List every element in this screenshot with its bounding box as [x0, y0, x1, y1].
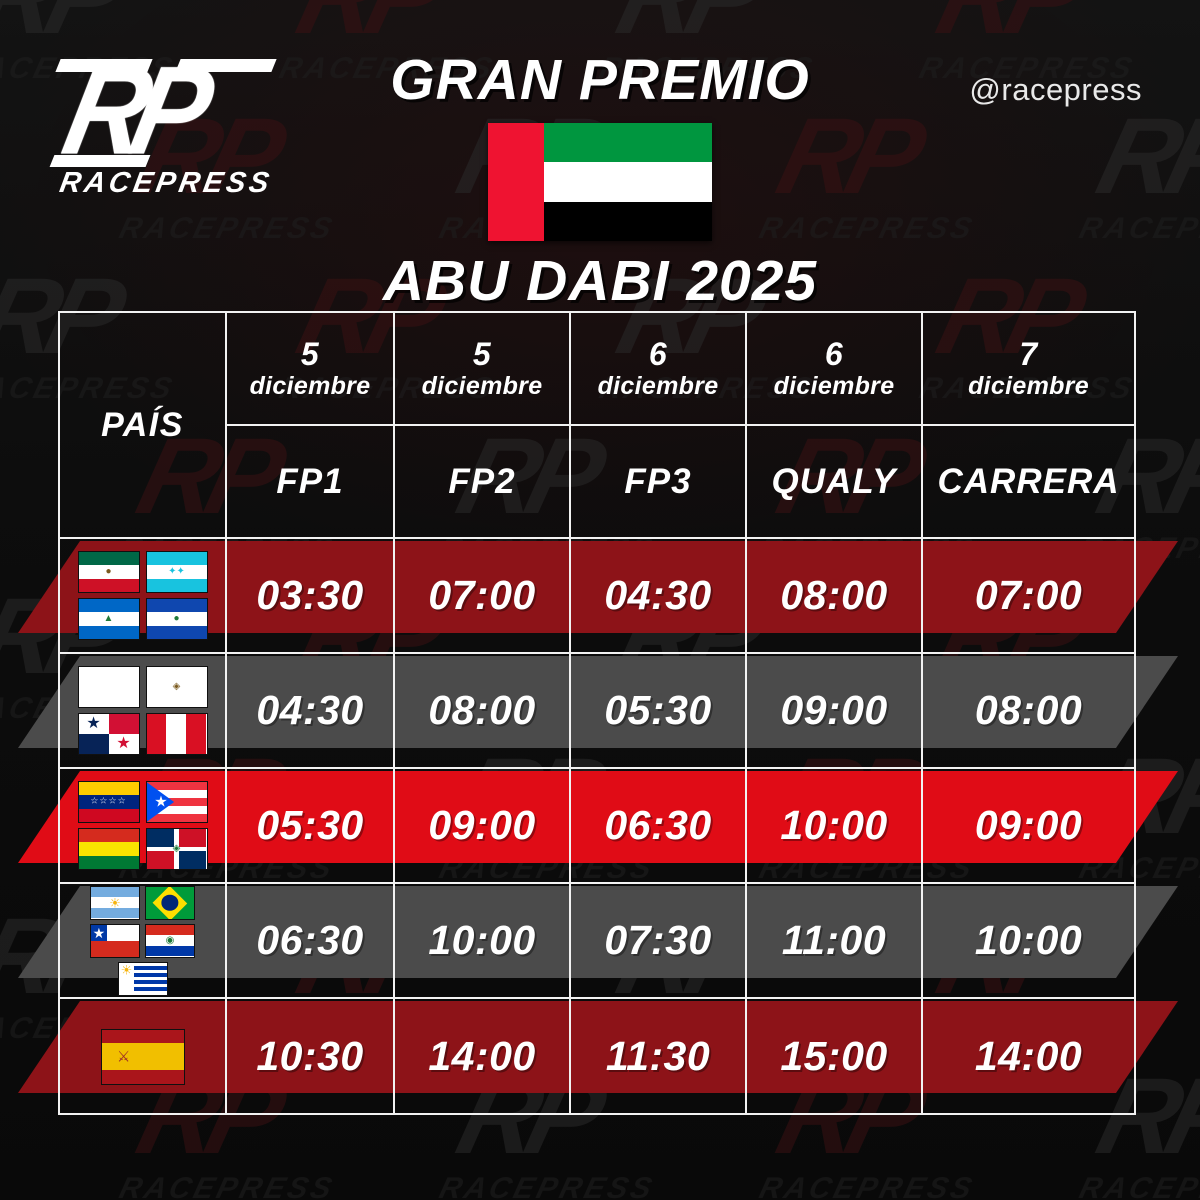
mexico-coat-of-arms-icon: ● [105, 567, 111, 577]
spain-coat-of-arms-icon: ⚔ [117, 1049, 130, 1064]
date-month: diciembre [598, 372, 719, 400]
spain-flag: ⚔ [101, 1029, 185, 1085]
el-salvador-coat-of-arms-icon: ● [173, 614, 179, 624]
racepress-logo: RP RACEPRESS [60, 55, 290, 195]
el-salvador-flag: ● [146, 598, 208, 640]
flag-stripe-white [544, 162, 712, 201]
date-day: 5 [301, 337, 319, 373]
country-flags-row-1: ● ✦✦ ▲ ● [60, 539, 227, 654]
country-flags-row-3: ☆☆☆☆ ★ ◈ [60, 769, 227, 884]
nicaragua-flag: ▲ [78, 598, 140, 640]
session-header-fp1: FP1 [227, 426, 395, 539]
title-block: GRAN PREMIO ABU DABI 2025 [300, 52, 900, 310]
time-row-3-fp3: 06:30 [571, 769, 747, 884]
time-row-1-qualy: 08:00 [747, 539, 923, 654]
chile-flag: ★ [90, 924, 140, 958]
venezuela-flag: ☆☆☆☆ [78, 781, 140, 823]
uruguay-sun-icon: ☀ [121, 963, 133, 976]
time-row-5-carrera: 14:00 [923, 999, 1134, 1114]
venezuela-stars-icon: ☆☆☆☆ [90, 796, 126, 807]
honduras-stars-icon: ✦✦ [168, 567, 185, 577]
time-row-5-fp2: 14:00 [395, 999, 571, 1114]
puerto-rico-star-icon: ★ [154, 795, 167, 810]
watermark-wordmark: RACEPRESS [1076, 1172, 1200, 1200]
time-row-2-qualy: 09:00 [747, 654, 923, 769]
country-flags-row-2: ◈ ★ ★ [60, 654, 227, 769]
session-header-fp3: FP3 [571, 426, 747, 539]
time-row-1-fp2: 07:00 [395, 539, 571, 654]
time-row-3-fp2: 09:00 [395, 769, 571, 884]
argentina-sun-icon: ☀ [109, 896, 121, 909]
date-day: 5 [473, 337, 491, 373]
time-row-4-fp1: 06:30 [227, 884, 395, 999]
colombia-flag [78, 666, 140, 708]
flag-group: ● ✦✦ ▲ ● [68, 551, 218, 640]
honduras-flag: ✦✦ [146, 551, 208, 593]
time-row-2-fp1: 04:30 [227, 654, 395, 769]
flag-group: ◈ ★ ★ [68, 666, 218, 755]
graphic-canvas: RPRACEPRESSRPRACEPRESSRPRACEPRESSRPRACEP… [0, 0, 1200, 1200]
schedule-grid: PAÍS 5 diciembre 5 diciembre 6 diciembre… [58, 311, 1136, 1115]
session-header-fp2: FP2 [395, 426, 571, 539]
nicaragua-coat-of-arms-icon: ▲ [104, 614, 114, 624]
country-flags-row-4: ☀ ★ ◉ ☀ [60, 884, 227, 999]
watermark-wordmark: RACEPRESS [116, 1172, 338, 1200]
watermark-wordmark: RACEPRESS [756, 1172, 978, 1200]
date-day: 7 [1019, 337, 1037, 373]
time-row-3-carrera: 09:00 [923, 769, 1134, 884]
peru-flag [146, 713, 208, 755]
watermark-wordmark: RACEPRESS [436, 1172, 658, 1200]
puerto-rico-flag: ★ [146, 781, 208, 823]
uruguay-flag: ☀ [118, 962, 168, 996]
session-header-qualy: QUALY [747, 426, 923, 539]
flag-stripe-black [544, 202, 712, 241]
time-row-1-fp1: 03:30 [227, 539, 395, 654]
argentina-flag: ☀ [90, 886, 140, 920]
united-arab-emirates-flag [488, 123, 712, 241]
date-header-fp2: 5 diciembre [395, 313, 571, 426]
time-row-2-carrera: 08:00 [923, 654, 1134, 769]
time-row-5-fp1: 10:30 [227, 999, 395, 1114]
time-row-4-carrera: 10:00 [923, 884, 1134, 999]
date-header-qualy: 6 diciembre [747, 313, 923, 426]
page-title-line1: GRAN PREMIO [300, 52, 900, 109]
paraguay-coat-of-arms-icon: ◉ [166, 936, 175, 946]
date-header-carrera: 7 diciembre [923, 313, 1134, 426]
panama-flag: ★ ★ [78, 713, 140, 755]
session-header-carrera: CARRERA [923, 426, 1134, 539]
country-flags-row-5: ⚔ [60, 999, 227, 1114]
flag-stripe-red [488, 123, 544, 241]
page-title-line2: ABU DABI 2025 [300, 253, 900, 310]
time-row-2-fp3: 05:30 [571, 654, 747, 769]
date-header-fp3: 6 diciembre [571, 313, 747, 426]
flag-group: ☀ ★ ◉ ☀ [67, 886, 219, 996]
time-row-3-fp1: 05:30 [227, 769, 395, 884]
date-header-fp1: 5 diciembre [227, 313, 395, 426]
brazil-flag [145, 886, 195, 920]
date-month: diciembre [250, 372, 371, 400]
time-row-5-fp3: 11:30 [571, 999, 747, 1114]
schedule-table: PAÍS 5 diciembre 5 diciembre 6 diciembre… [58, 311, 1136, 1115]
date-day: 6 [825, 337, 843, 373]
time-row-3-qualy: 10:00 [747, 769, 923, 884]
ecuador-flag: ◈ [146, 666, 208, 708]
header: RP RACEPRESS GRAN PREMIO ABU DABI 2025 @… [0, 0, 1200, 300]
date-month: diciembre [422, 372, 543, 400]
country-column-header: PAÍS [60, 313, 227, 539]
panama-blue-star-icon: ★ [86, 716, 100, 732]
paraguay-flag: ◉ [145, 924, 195, 958]
dominican-coat-of-arms-icon: ◈ [173, 844, 181, 854]
dominican-republic-flag: ◈ [146, 828, 208, 870]
panama-red-star-icon: ★ [116, 736, 130, 752]
mexico-flag: ● [78, 551, 140, 593]
flag-group: ⚔ [68, 1029, 218, 1085]
time-row-2-fp2: 08:00 [395, 654, 571, 769]
ecuador-coat-of-arms-icon: ◈ [173, 682, 181, 692]
bolivia-flag [78, 828, 140, 870]
social-handle: @racepress [969, 72, 1142, 108]
logo-wordmark: RACEPRESS [57, 167, 275, 200]
time-row-4-fp3: 07:30 [571, 884, 747, 999]
flag-stripe-green [544, 123, 712, 162]
chile-star-icon: ★ [93, 926, 106, 940]
date-month: diciembre [968, 372, 1089, 400]
time-row-5-qualy: 15:00 [747, 999, 923, 1114]
time-row-4-qualy: 11:00 [747, 884, 923, 999]
time-row-1-carrera: 07:00 [923, 539, 1134, 654]
flag-group: ☆☆☆☆ ★ ◈ [68, 781, 218, 870]
time-row-1-fp3: 04:30 [571, 539, 747, 654]
date-day: 6 [649, 337, 667, 373]
date-month: diciembre [774, 372, 895, 400]
time-row-4-fp2: 10:00 [395, 884, 571, 999]
